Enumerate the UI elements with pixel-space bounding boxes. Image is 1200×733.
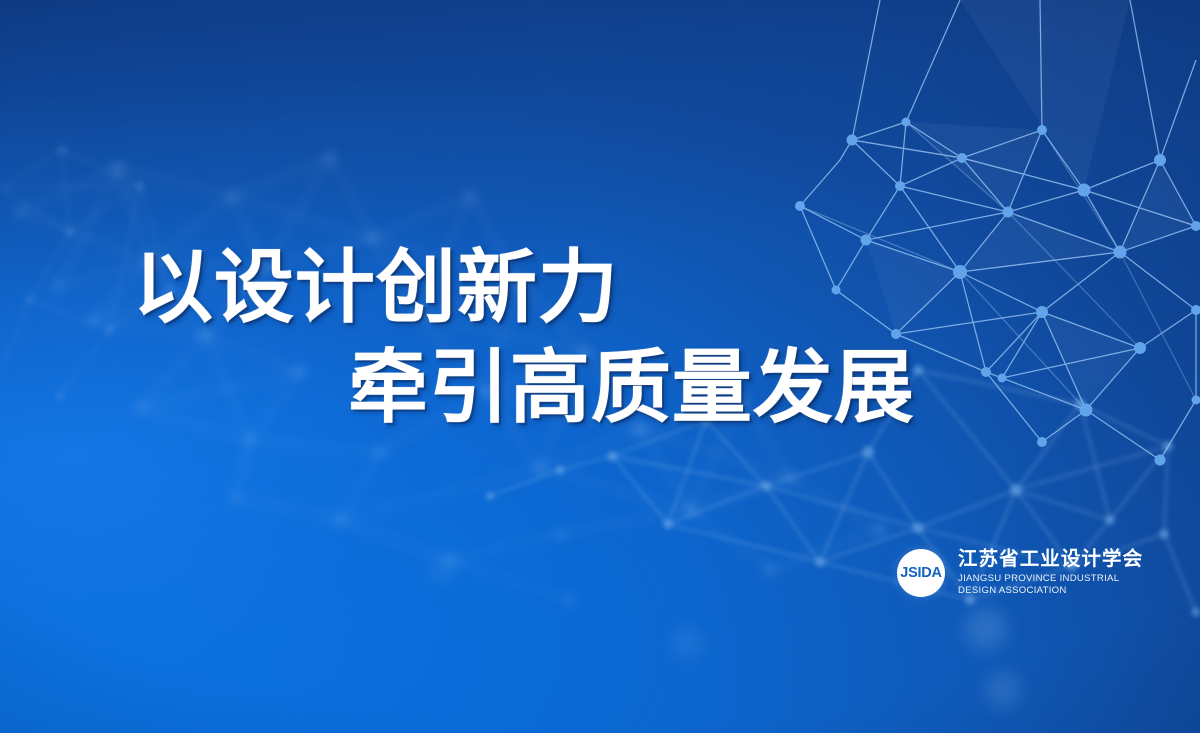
organization-name-en-line1: JIANGSU PROVINCE INDUSTRIAL — [958, 573, 1143, 585]
jsida-logo-text: JSIDA — [900, 565, 941, 581]
organization-name-en: JIANGSU PROVINCE INDUSTRIAL DESIGN ASSOC… — [958, 573, 1143, 598]
banner-canvas: 以设计创新力 牵引高质量发展 JSIDA 江苏省工业设计学会 JIANGSU P… — [0, 0, 1200, 733]
organization-name-en-line2: DESIGN ASSOCIATION — [958, 585, 1143, 597]
background-vignette — [0, 0, 1200, 733]
organization-name-cn: 江苏省工业设计学会 — [958, 549, 1143, 571]
jsida-logo-icon: JSIDA — [897, 549, 945, 597]
organization-logo-lockup: JSIDA 江苏省工业设计学会 JIANGSU PROVINCE INDUSTR… — [897, 549, 1143, 597]
organization-name-block: 江苏省工业设计学会 JIANGSU PROVINCE INDUSTRIAL DE… — [958, 549, 1143, 597]
